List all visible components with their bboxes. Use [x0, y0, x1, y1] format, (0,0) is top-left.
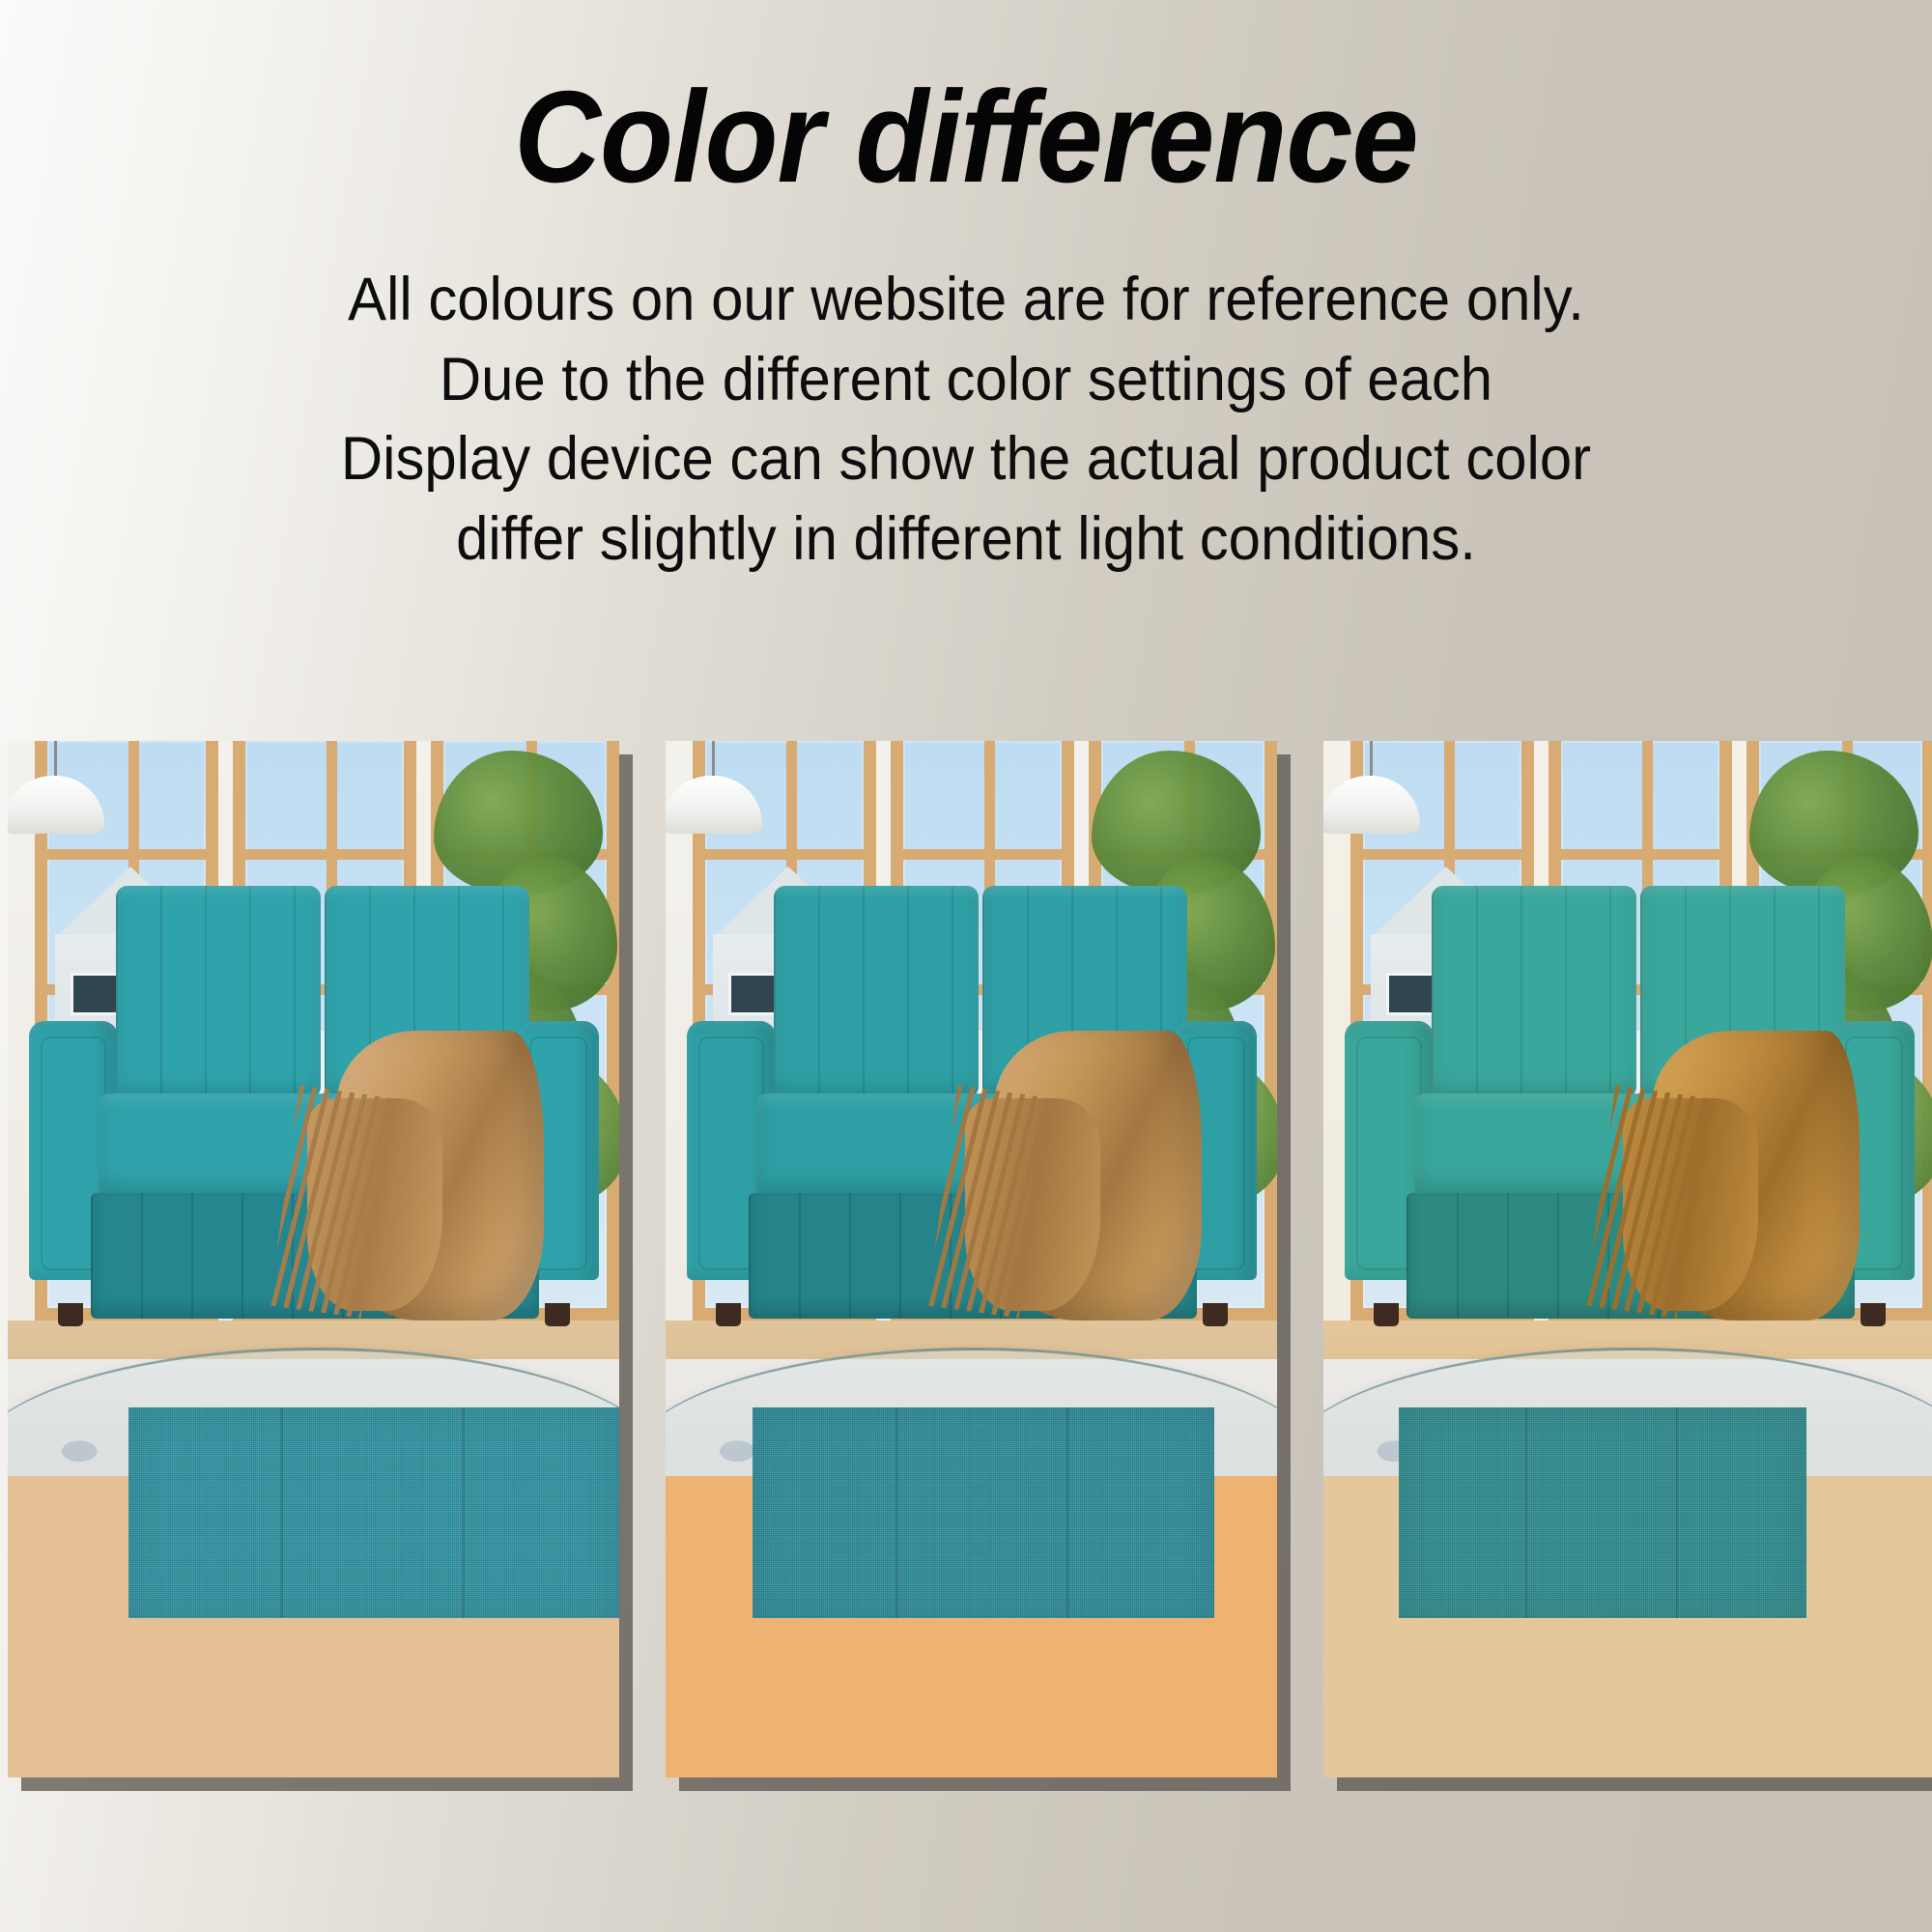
pendant-lamp-cord — [54, 741, 57, 780]
fabric-swatch-natural — [753, 1407, 1214, 1618]
pendant-lamp-cord — [1370, 741, 1373, 780]
intro-line-2: Due to the different color settings of e… — [48, 340, 1884, 420]
fabric-swatch-warm — [1399, 1407, 1806, 1618]
intro-line-3: Display device can show the actual produ… — [48, 419, 1884, 499]
intro-line-4: differ slightly in different light condi… — [48, 499, 1884, 580]
sofa-leg-left — [58, 1303, 83, 1326]
panel-natural-light-effect[interactable]: Natural Light Effect — [666, 741, 1277, 1777]
intro-paragraph: All colours on our website are for refer… — [48, 260, 1884, 579]
throw-blanket — [1594, 1031, 1864, 1350]
comparison-panel-row: Calt Light Effect — [0, 741, 1932, 1794]
sofa-leg-left — [1374, 1303, 1399, 1326]
intro-line-1: All colours on our website are for refer… — [48, 260, 1884, 340]
panel-calt-light-effect[interactable]: Calt Light Effect — [8, 741, 619, 1777]
page-title: Color difference — [77, 60, 1855, 213]
throw-blanket — [278, 1031, 549, 1350]
header-section: Color difference All colours on our webs… — [0, 0, 1932, 734]
fabric-swatch-calt — [128, 1407, 619, 1618]
sofa-leg-left — [716, 1303, 741, 1326]
panel-warm-light-effect[interactable]: Warm Light Effect — [1323, 741, 1932, 1777]
throw-blanket — [936, 1031, 1207, 1350]
pendant-lamp-cord — [712, 741, 715, 780]
